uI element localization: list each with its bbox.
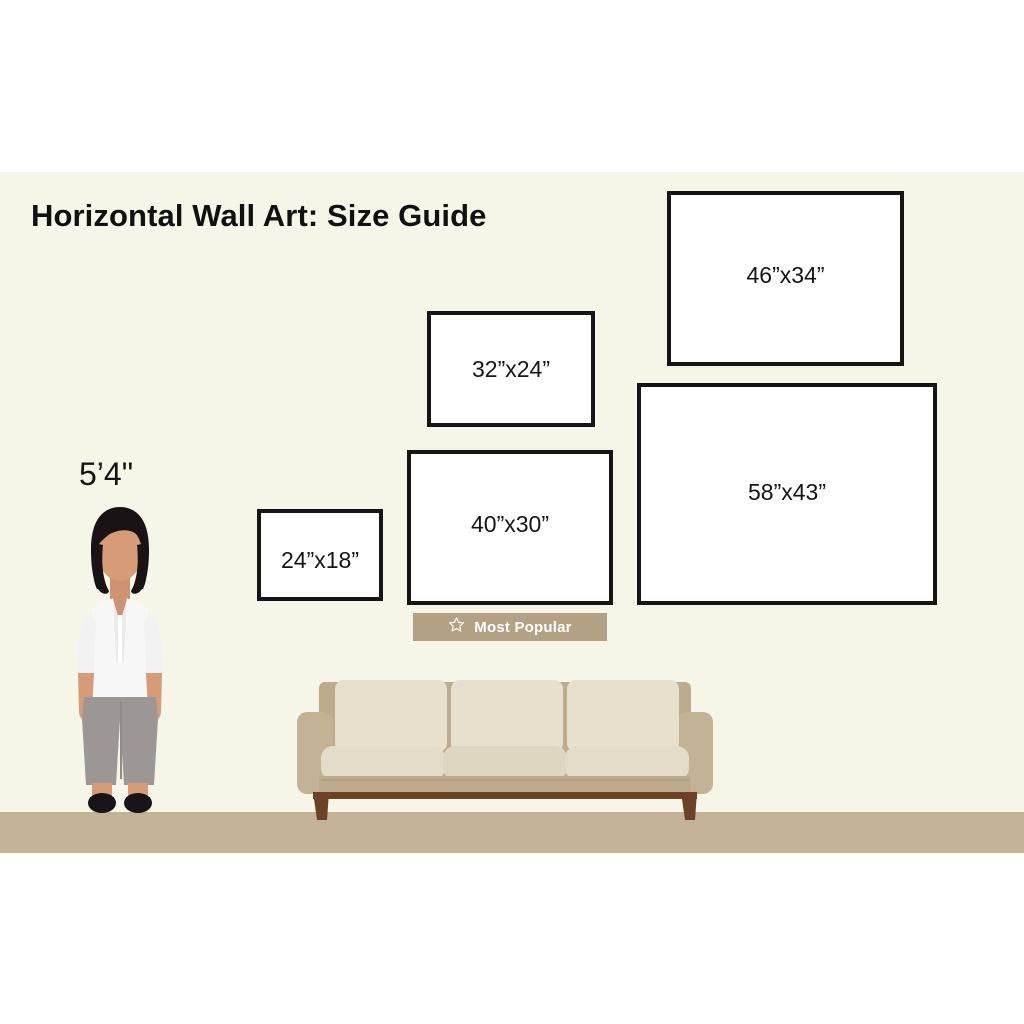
frame-32x24[interactable]: 32”x24” [427,311,595,427]
frame-32x24-label: 32”x24” [431,356,591,383]
most-popular-badge[interactable]: Most Popular [413,613,607,641]
frame-46x34-label: 46”x34” [671,262,900,289]
frame-58x43-label: 58”x43” [641,479,933,506]
frame-40x30-label: 40”x30” [411,511,609,538]
three-seat-sofa [283,668,727,823]
most-popular-label: Most Popular [474,619,571,636]
star-outline-icon [448,616,465,638]
frame-58x43[interactable]: 58”x43” [637,383,937,605]
page-title: Horizontal Wall Art: Size Guide [31,198,487,234]
frame-24x18[interactable]: 24”x18” [257,509,383,601]
standing-woman-figure [58,505,182,821]
frame-40x30[interactable]: 40”x30” [407,450,613,605]
frame-24x18-label: 24”x18” [261,547,379,574]
height-reference-label: 5’4" [79,456,133,493]
frame-46x34[interactable]: 46”x34” [667,191,904,366]
size-guide-illustration: Horizontal Wall Art: Size Guide 5’4" [0,0,1024,1024]
